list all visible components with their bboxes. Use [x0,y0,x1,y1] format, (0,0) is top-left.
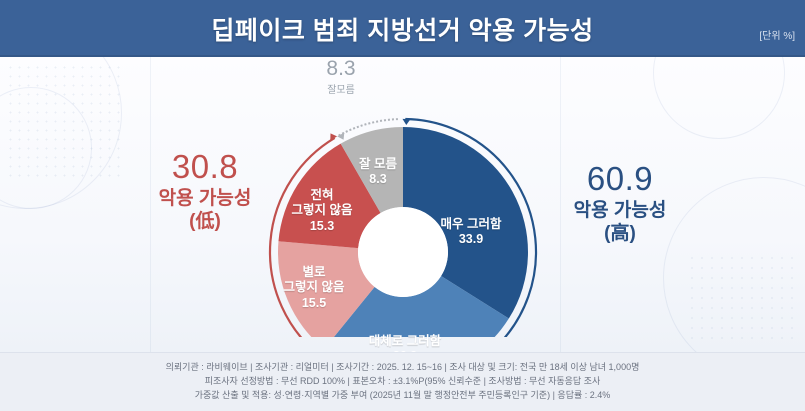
infographic-root: 딥페이크 범죄 지방선거 악용 가능성 [단위 %] 8.3 잘모름 30.8 … [0,0,805,411]
arc-arrow-icon [337,133,347,142]
donut-chart-svg [268,62,538,337]
footer-methodology: 의뢰기관 : 라비웨이브 | 조사기관 : 리얼미터 | 조사기간 : 2025… [0,352,805,411]
summary-high-value: 60.9 [520,160,720,199]
decor-circle [653,57,785,139]
footer-line-2: 피조사자 선정방법 : 무선 RDD 100% | 표본오차 : ±3.1%P(… [205,375,601,389]
summary-low-label: 악용 가능성 [120,188,290,210]
summary-low-value: 30.8 [120,148,290,187]
arc-arrow-icon [402,119,410,125]
footer-line-3: 가중값 산출 및 적용: 성·연령·지역별 가중 부여 (2025년 11월 말… [195,389,611,403]
unit-label: [단위 %] [759,27,795,42]
footer-line-1: 의뢰기관 : 라비웨이브 | 조사기관 : 리얼미터 | 조사기간 : 2025… [166,361,640,375]
summary-high-qualifier: (高) [520,223,720,245]
summary-low-qualifier: (低) [120,211,290,233]
header-bar: 딥페이크 범죄 지방선거 악용 가능성 [0,0,805,57]
summary-high-label: 악용 가능성 [520,200,720,222]
donut-hole [358,207,448,297]
donut-chart: 매우 그러함 33.9 대체로 그러함 26.9 별로 그렇지 않음 15.5 … [268,62,538,337]
summary-low: 30.8 악용 가능성 (低) [120,148,290,234]
summary-high: 60.9 악용 가능성 (高) [520,160,720,246]
arc-arrow-icon [327,131,337,140]
page-title: 딥페이크 범죄 지방선거 악용 가능성 [211,11,593,47]
